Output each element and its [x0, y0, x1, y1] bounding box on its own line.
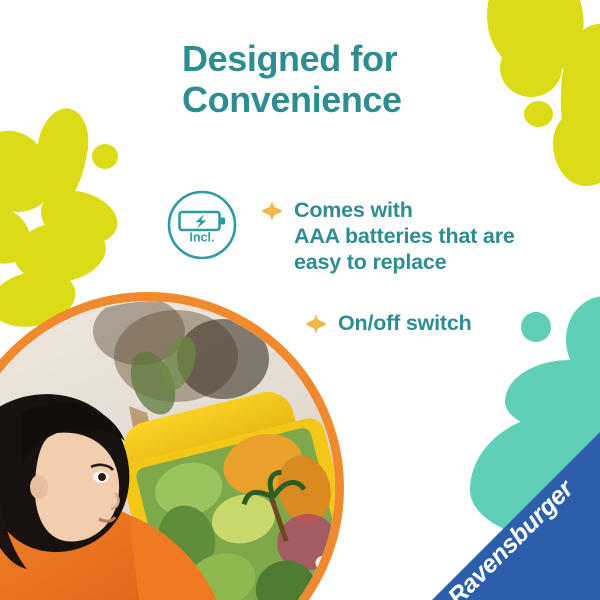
yellow-dot-left [92, 144, 118, 169]
yellow-blob-top-right-small [524, 101, 553, 127]
yellow-blob-right-drop [553, 104, 600, 186]
mint-blob-right-lower [505, 360, 600, 434]
lifestyle-photo-frame [0, 292, 344, 600]
yellow-petal-left-lower-outer [0, 195, 41, 275]
mint-blob-right-large [566, 296, 600, 386]
child-reading-puzzle-photo [0, 301, 335, 600]
battery-included-icon: Incl. [166, 189, 238, 261]
brand-logo-corner: Ravensburger [432, 432, 600, 600]
yellow-petal-left-lower [10, 216, 109, 288]
yellow-blob-right-edge [552, 21, 600, 176]
plus-star-icon [261, 200, 283, 222]
feature-item-batteries: Comes with AAA batteries that are easy t… [261, 197, 579, 276]
battery-badge-label: Incl. [189, 231, 214, 245]
yellow-petal-left-upper [28, 105, 93, 214]
feature-item-onoff-switch: On/off switch [305, 310, 535, 336]
feature-label-batteries: Comes with AAA batteries that are easy t… [294, 197, 515, 276]
yellow-petal-left-mid [34, 182, 123, 253]
feature-label-onoff-switch: On/off switch [338, 310, 472, 336]
product-feature-poster: Designed for Convenience Incl. Comes wit… [0, 0, 600, 600]
yellow-petal-left-outer [0, 118, 65, 226]
plus-star-icon [305, 313, 327, 335]
page-title: Designed for Convenience [182, 38, 512, 120]
